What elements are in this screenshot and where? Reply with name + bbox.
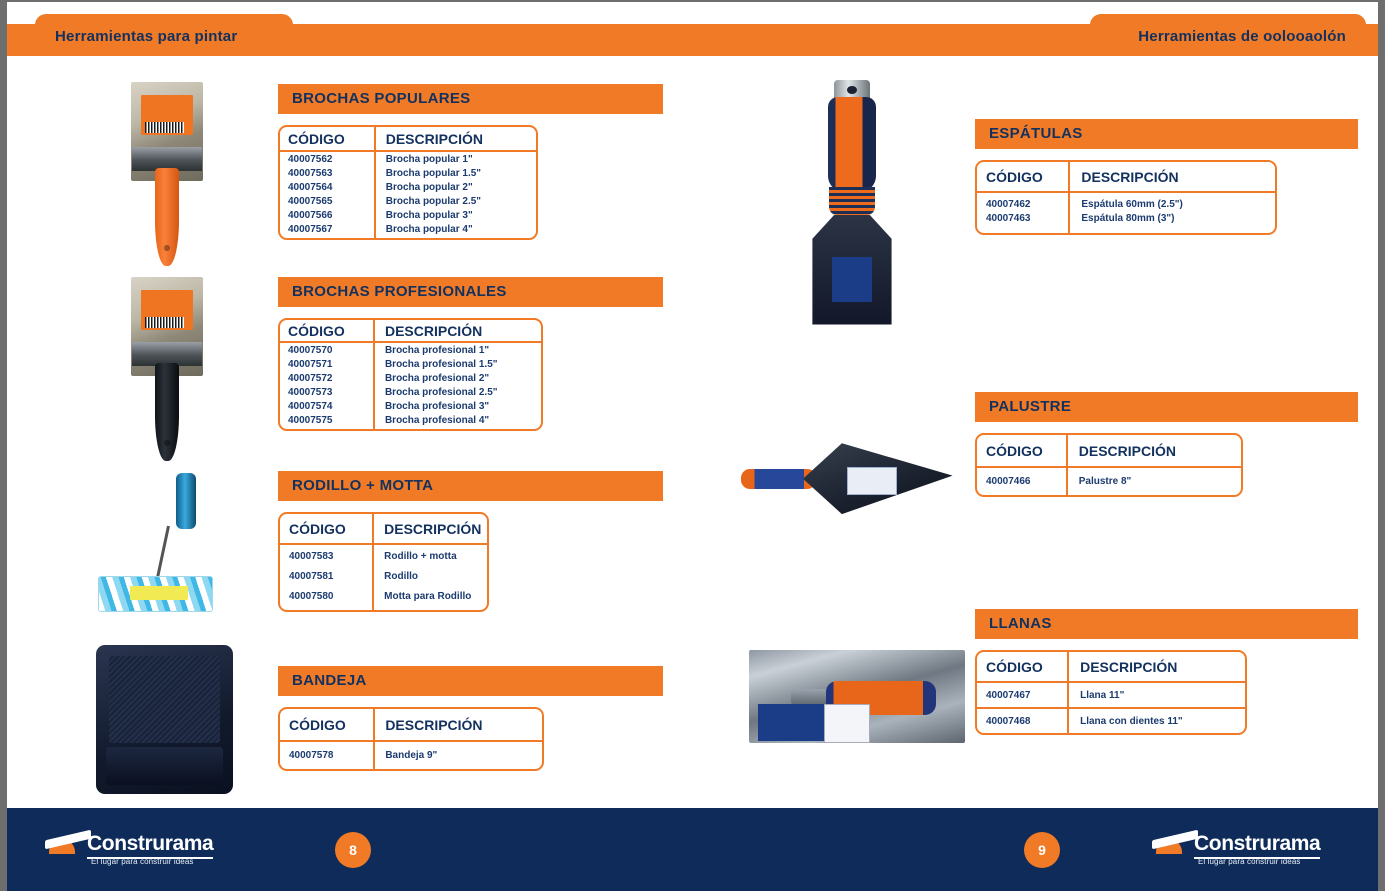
cell-codigo: 40007573	[280, 385, 374, 399]
cell-codigo: 40007566	[280, 208, 375, 222]
table-row: 40007581 Rodillo	[280, 566, 487, 586]
col-header-descripcion: DESCRIPCIÓN	[1069, 162, 1275, 192]
brand-wordmark: Construrama	[87, 832, 213, 859]
table-header-row: CÓDIGO DESCRIPCIÓN	[280, 709, 542, 741]
construrama-roof-icon	[45, 834, 89, 854]
col-header-descripcion: DESCRIPCIÓN	[373, 514, 487, 544]
col-header-descripcion: DESCRIPCIÓN	[374, 709, 542, 741]
table-row: 40007462 Espátula 60mm (2.5")	[977, 192, 1275, 211]
table-header-row: CÓDIGO DESCRIPCIÓN	[280, 127, 536, 151]
cell-descripcion: Brocha profesional 1"	[374, 342, 541, 357]
page-header: Herramientas para pintar Herramientas de…	[7, 2, 1378, 68]
cell-descripcion: Llana 11"	[1068, 682, 1245, 708]
cell-codigo: 40007467	[977, 682, 1068, 708]
cell-descripcion: Brocha popular 4"	[375, 222, 536, 238]
table-row: 40007463 Espátula 80mm (3")	[977, 211, 1275, 233]
cell-descripcion: Brocha profesional 3"	[374, 399, 541, 413]
table-row: 40007571 Brocha profesional 1.5"	[280, 357, 541, 371]
col-header-codigo: CÓDIGO	[977, 162, 1069, 192]
table-bandeja: CÓDIGO DESCRIPCIÓN 40007578 Bandeja 9"	[278, 707, 544, 771]
col-header-descripcion: DESCRIPCIÓN	[1067, 435, 1241, 467]
paint-brush-black-handle-icon	[102, 277, 232, 467]
right-column: ESPÁTULAS CÓDIGO DESCRIPCIÓN 40007462	[697, 68, 1378, 808]
section-rodillo-motta: RODILLO + MOTTA CÓDIGO DESCRIPCIÓN 40007…	[278, 471, 663, 612]
masonry-trowel-icon	[737, 427, 957, 537]
section-espatulas: ESPÁTULAS CÓDIGO DESCRIPCIÓN 40007462	[975, 119, 1358, 235]
product-image-bandeja	[87, 642, 242, 797]
section-title: ESPÁTULAS	[975, 119, 1358, 149]
col-header-descripcion: DESCRIPCIÓN	[1068, 652, 1245, 682]
col-header-codigo: CÓDIGO	[977, 435, 1067, 467]
col-header-codigo: CÓDIGO	[280, 127, 375, 151]
construrama-logo-left: Construrama El lugar para construir idea…	[45, 832, 235, 868]
cell-codigo: 40007565	[280, 194, 375, 208]
cell-codigo: 40007463	[977, 211, 1069, 233]
table-row: 40007570 Brocha profesional 1"	[280, 342, 541, 357]
cell-codigo: 40007468	[977, 708, 1068, 733]
cell-codigo: 40007580	[280, 586, 373, 610]
section-llanas: LLANAS CÓDIGO DESCRIPCIÓN 40007467 Llana…	[975, 609, 1358, 735]
table-row: 40007583 Rodillo + motta	[280, 544, 487, 566]
table-espatulas: CÓDIGO DESCRIPCIÓN 40007462 Espátula 60m…	[975, 160, 1277, 235]
section-palustre: PALUSTRE CÓDIGO DESCRIPCIÓN 40007466 Pal…	[975, 392, 1358, 497]
cell-descripcion: Brocha profesional 4"	[374, 413, 541, 429]
cell-codigo: 40007571	[280, 357, 374, 371]
cell-codigo: 40007575	[280, 413, 374, 429]
cell-codigo: 40007563	[280, 166, 375, 180]
catalog-page: Herramientas para pintar Herramientas de…	[0, 0, 1385, 891]
section-title: PALUSTRE	[975, 392, 1358, 422]
putty-knife-spatula-icon	[797, 77, 907, 327]
cell-descripcion: Brocha popular 1"	[375, 151, 536, 166]
table-row: 40007466 Palustre 8"	[977, 467, 1241, 495]
table-row: 40007467 Llana 11"	[977, 682, 1245, 708]
col-header-codigo: CÓDIGO	[280, 320, 374, 342]
table-row: 40007562 Brocha popular 1"	[280, 151, 536, 166]
cell-descripcion: Brocha popular 3"	[375, 208, 536, 222]
table-rodillo-motta: CÓDIGO DESCRIPCIÓN 40007583 Rodillo + mo…	[278, 512, 489, 612]
left-column: BROCHAS POPULARES CÓDIGO DESCRIPCIÓN 400…	[7, 68, 697, 808]
section-title: BROCHAS PROFESIONALES	[278, 277, 663, 307]
cell-descripcion: Brocha popular 2.5"	[375, 194, 536, 208]
cell-codigo: 40007466	[977, 467, 1067, 495]
table-header-row: CÓDIGO DESCRIPCIÓN	[977, 162, 1275, 192]
section-title-text: ESPÁTULAS	[989, 125, 1083, 142]
cell-codigo: 40007570	[280, 342, 374, 357]
cell-descripcion: Llana con dientes 11"	[1068, 708, 1245, 733]
table-brochas-profesionales: CÓDIGO DESCRIPCIÓN 40007570 Brocha profe…	[278, 318, 543, 431]
cell-descripcion: Brocha profesional 1.5"	[374, 357, 541, 371]
table-row: 40007567 Brocha popular 4"	[280, 222, 536, 238]
col-header-codigo: CÓDIGO	[977, 652, 1068, 682]
cell-descripcion: Espátula 80mm (3")	[1069, 211, 1275, 233]
header-title-right: Herramientas de oolooaolón	[1138, 28, 1346, 45]
section-brochas-populares: BROCHAS POPULARES CÓDIGO DESCRIPCIÓN 400…	[278, 84, 663, 240]
col-header-codigo: CÓDIGO	[280, 514, 373, 544]
table-row: 40007566 Brocha popular 3"	[280, 208, 536, 222]
cell-descripcion: Rodillo	[373, 566, 487, 586]
product-image-rodillo	[92, 467, 237, 622]
table-row: 40007563 Brocha popular 1.5"	[280, 166, 536, 180]
section-title: RODILLO + MOTTA	[278, 471, 663, 501]
table-header-row: CÓDIGO DESCRIPCIÓN	[280, 320, 541, 342]
page-number-left: 8	[335, 832, 371, 868]
table-row: 40007565 Brocha popular 2.5"	[280, 194, 536, 208]
table-row: 40007564 Brocha popular 2"	[280, 180, 536, 194]
cell-codigo: 40007574	[280, 399, 374, 413]
table-llanas: CÓDIGO DESCRIPCIÓN 40007467 Llana 11" 40…	[975, 650, 1247, 735]
table-row: 40007572 Brocha profesional 2"	[280, 371, 541, 385]
plastering-float-icon	[747, 642, 967, 772]
brand-tagline: El lugar para construir ideas	[1198, 857, 1301, 866]
page-footer: Construrama El lugar para construir idea…	[7, 808, 1378, 891]
construrama-roof-icon	[1152, 834, 1196, 854]
brand-wordmark: Construrama	[1194, 832, 1320, 859]
table-row: 40007580 Motta para Rodillo	[280, 586, 487, 610]
product-image-espatulas	[797, 77, 907, 327]
cell-codigo: 40007567	[280, 222, 375, 238]
col-header-codigo: CÓDIGO	[280, 709, 374, 741]
table-brochas-populares: CÓDIGO DESCRIPCIÓN 40007562 Brocha popul…	[278, 125, 538, 240]
cell-descripcion: Rodillo + motta	[373, 544, 487, 566]
product-image-brochas-profesionales	[102, 277, 232, 467]
cell-codigo: 40007581	[280, 566, 373, 586]
section-title: BROCHAS POPULARES	[278, 84, 663, 114]
cell-descripcion: Brocha profesional 2.5"	[374, 385, 541, 399]
cell-descripcion: Palustre 8"	[1067, 467, 1241, 495]
cell-codigo: 40007572	[280, 371, 374, 385]
paint-roller-icon	[92, 467, 237, 622]
paint-tray-icon	[87, 642, 242, 797]
cell-descripcion: Motta para Rodillo	[373, 586, 487, 610]
table-header-row: CÓDIGO DESCRIPCIÓN	[280, 514, 487, 544]
table-row: 40007468 Llana con dientes 11"	[977, 708, 1245, 733]
section-title: LLANAS	[975, 609, 1358, 639]
col-header-descripcion: DESCRIPCIÓN	[374, 320, 541, 342]
table-row: 40007574 Brocha profesional 3"	[280, 399, 541, 413]
table-header-row: CÓDIGO DESCRIPCIÓN	[977, 652, 1245, 682]
cell-descripcion: Brocha popular 2"	[375, 180, 536, 194]
table-header-row: CÓDIGO DESCRIPCIÓN	[977, 435, 1241, 467]
page-number-right: 9	[1024, 832, 1060, 868]
construrama-logo-right: Construrama El lugar para construir idea…	[1152, 832, 1342, 868]
cell-codigo: 40007562	[280, 151, 375, 166]
paint-brush-orange-handle-icon	[102, 82, 232, 272]
cell-codigo: 40007583	[280, 544, 373, 566]
cell-codigo: 40007578	[280, 741, 374, 769]
brand-tagline: El lugar para construir ideas	[91, 857, 194, 866]
section-brochas-profesionales: BROCHAS PROFESIONALES CÓDIGO DESCRIPCIÓN…	[278, 277, 663, 431]
table-row: 40007573 Brocha profesional 2.5"	[280, 385, 541, 399]
cell-descripcion: Espátula 60mm (2.5")	[1069, 192, 1275, 211]
section-title: BANDEJA	[278, 666, 663, 696]
cell-descripcion: Brocha popular 1.5"	[375, 166, 536, 180]
cell-codigo: 40007564	[280, 180, 375, 194]
cell-descripcion: Bandeja 9"	[374, 741, 542, 769]
cell-descripcion: Brocha profesional 2"	[374, 371, 541, 385]
col-header-descripcion: DESCRIPCIÓN	[375, 127, 536, 151]
header-title-left: Herramientas para pintar	[55, 28, 237, 45]
table-palustre: CÓDIGO DESCRIPCIÓN 40007466 Palustre 8"	[975, 433, 1243, 497]
cell-codigo: 40007462	[977, 192, 1069, 211]
product-image-palustre	[737, 427, 957, 537]
table-row: 40007578 Bandeja 9"	[280, 741, 542, 769]
section-bandeja: BANDEJA CÓDIGO DESCRIPCIÓN 40007578 Band…	[278, 666, 663, 771]
product-image-brochas-populares	[102, 82, 232, 272]
product-image-llanas	[747, 642, 967, 772]
table-row: 40007575 Brocha profesional 4"	[280, 413, 541, 429]
